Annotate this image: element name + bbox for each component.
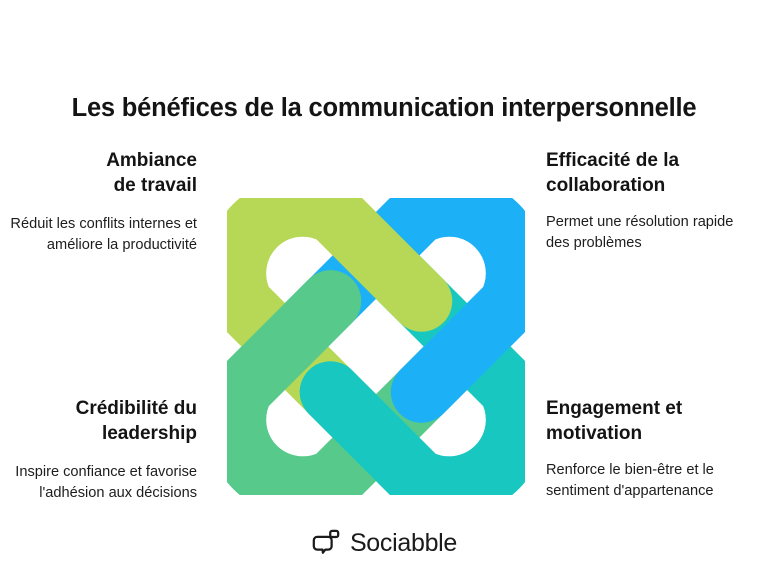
- quadrant-bottom-left-heading-line2: leadership: [102, 423, 197, 444]
- interlocking-knot-graphic: [227, 198, 525, 495]
- brand-name: Sociabble: [350, 531, 457, 556]
- speech-bubble-icon: [311, 528, 341, 558]
- quadrant-top-left: Ambiance de travail Réduit les conflits …: [0, 148, 197, 256]
- page-title: Les bénéfices de la communication interp…: [0, 93, 768, 124]
- quadrant-top-left-heading-line1: Ambiance: [106, 150, 197, 171]
- quadrant-bottom-left-body: Inspire confiance et favorise l'adhésion…: [0, 446, 197, 503]
- quadrant-bottom-right-heading: Engagement et motivation: [546, 396, 756, 446]
- quadrant-top-right-heading: Efficacité de la collaboration: [546, 148, 756, 198]
- quadrant-top-left-heading: Ambiance de travail: [0, 148, 197, 198]
- quadrant-bottom-right-heading-line1: Engagement et: [546, 398, 682, 419]
- quadrant-bottom-right: Engagement et motivation Renforce le bie…: [546, 396, 756, 502]
- quadrant-bottom-left: Crédibilité du leadership Inspire confia…: [0, 396, 197, 504]
- quadrant-bottom-left-heading: Crédibilité du leadership: [0, 396, 197, 446]
- quadrant-top-right: Efficacité de la collaboration Permet un…: [546, 148, 756, 254]
- quadrant-top-left-heading-line2: de travail: [114, 175, 197, 196]
- quadrant-top-right-heading-line1: Efficacité de la: [546, 150, 679, 171]
- brand-logo: Sociabble: [0, 528, 768, 558]
- quadrant-top-left-body: Réduit les conflits internes et améliore…: [0, 198, 197, 255]
- quadrant-bottom-left-heading-line1: Crédibilité du: [76, 398, 197, 419]
- quadrant-bottom-right-heading-line2: motivation: [546, 423, 642, 444]
- quadrant-bottom-right-body: Renforce le bien-être et le sentiment d'…: [546, 446, 756, 501]
- quadrant-top-right-heading-line2: collaboration: [546, 175, 665, 196]
- knot-svg: [227, 198, 525, 495]
- quadrant-top-right-body: Permet une résolution rapide des problèm…: [546, 198, 756, 253]
- infographic-root: Les bénéfices de la communication interp…: [0, 0, 768, 577]
